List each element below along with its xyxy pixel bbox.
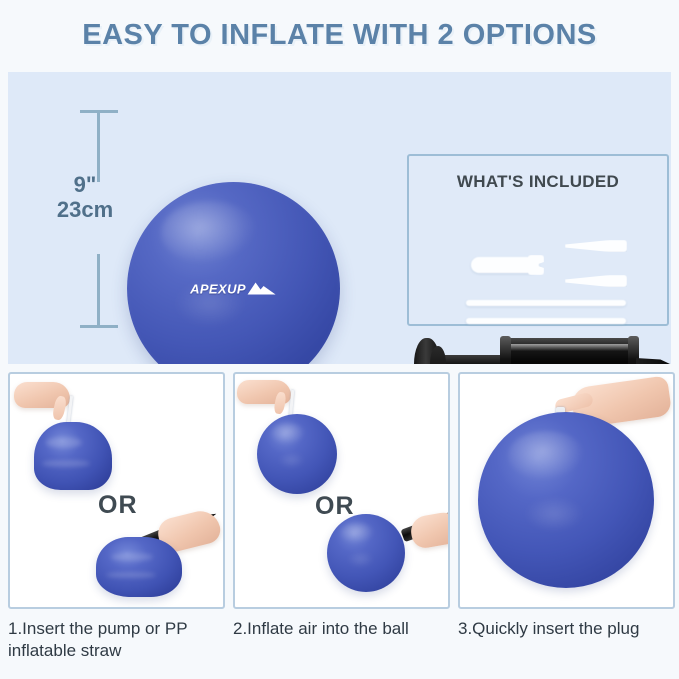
infographic-page: EASY TO INFLATE WITH 2 OPTIONS 9" 23cm A… (0, 0, 679, 679)
whats-included-title: WHAT'S INCLUDED (409, 172, 667, 192)
pump-barrel (504, 338, 636, 364)
ball-fold (111, 553, 152, 561)
dimension-inches: 9" (46, 172, 124, 197)
ball-body: APEXUP (127, 182, 340, 364)
ball-highlight (271, 423, 306, 445)
pump-needle-tip (636, 358, 670, 364)
step-3-image (458, 372, 675, 609)
accessory-straw-1 (466, 300, 626, 306)
step-3-caption: 3.Quickly insert the plug (458, 618, 671, 640)
brand-logo-text: APEXUP (190, 281, 246, 296)
step-1-caption: 1.Insert the pump or PP inflatable straw (8, 618, 221, 662)
accessory-hand-pump (412, 324, 664, 364)
inflated-ball-top (257, 414, 337, 494)
step-1: OR 1.Insert the pump or PP inflatable st… (8, 372, 221, 662)
ball-secondary-highlight (278, 452, 305, 468)
inflated-ball-bottom (327, 514, 405, 592)
deflated-ball-top (34, 422, 112, 490)
brand-logo: APEXUP (190, 281, 277, 296)
ball-highlight (508, 431, 585, 480)
pump-ring-front (500, 336, 511, 364)
step-2-caption: 2.Inflate air into the ball (233, 618, 446, 640)
hero-panel: 9" 23cm APEXUP WHAT'S INCLUDED (8, 72, 671, 364)
title-bar: EASY TO INFLATE WITH 2 OPTIONS (0, 0, 679, 70)
ball-rim-light (127, 182, 340, 364)
step-2-image: OR (233, 372, 450, 609)
ball-secondary-highlight (524, 496, 584, 531)
dimension-cap-bottom (80, 325, 118, 328)
step-3: 3.Quickly insert the plug (458, 372, 671, 640)
step-1-or-label: OR (98, 491, 138, 520)
hand-holding-pump (409, 510, 450, 550)
step-1-image: OR (8, 372, 225, 609)
page-title: EASY TO INFLATE WITH 2 OPTIONS (82, 19, 597, 52)
product-ball: APEXUP (127, 182, 340, 364)
deflated-ball-bottom (96, 537, 182, 597)
dimension-centimeters: 23cm (46, 197, 124, 222)
steps-row: OR 1.Insert the pump or PP inflatable st… (8, 372, 671, 672)
pump-barrel-shine (504, 344, 636, 351)
ball-fold (42, 460, 90, 467)
ball-fold (46, 437, 82, 448)
dimension-label: 9" 23cm (46, 172, 124, 223)
ball-fold (106, 572, 156, 578)
step-2: OR 2.Inflate air into the ball (233, 372, 446, 640)
inflated-ball-large (478, 412, 654, 588)
pump-shaft (436, 355, 510, 364)
mountain-icon (247, 282, 277, 296)
ball-highlight (340, 523, 374, 545)
ball-secondary-highlight (347, 551, 374, 567)
